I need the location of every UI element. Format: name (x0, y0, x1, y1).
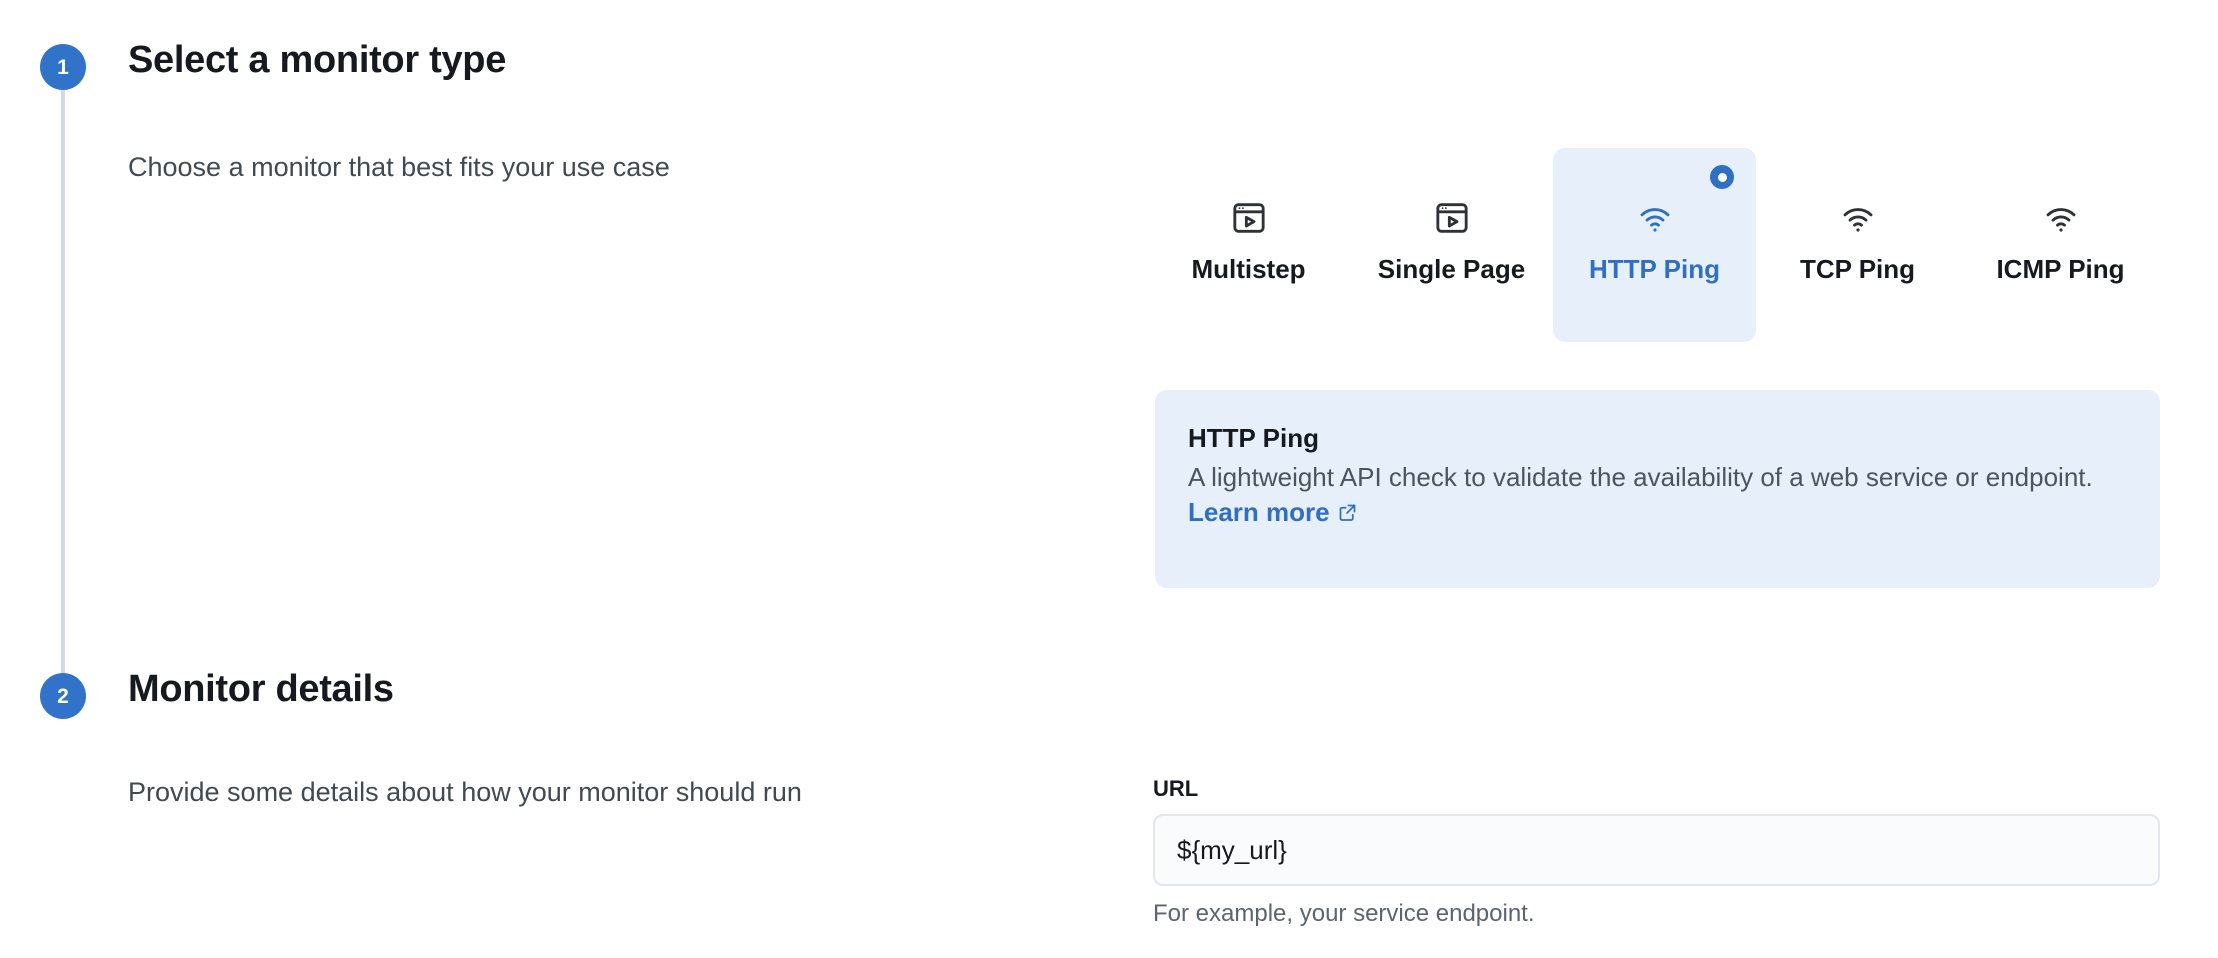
radio-selected-icon[interactable] (1710, 165, 1734, 189)
step-1-subtitle: Choose a monitor that best fits your use… (128, 152, 670, 183)
monitor-type-label: Multistep (1191, 254, 1305, 285)
monitor-type-selector: Multistep Single Page (1147, 148, 2162, 342)
info-panel-title: HTTP Ping (1188, 423, 2124, 454)
browser-play-icon (1229, 198, 1269, 238)
monitor-type-option-icmp-ping[interactable]: ICMP Ping (1959, 148, 2162, 342)
external-link-icon[interactable] (1337, 497, 1358, 518)
browser-play-icon (1432, 198, 1472, 238)
info-panel-description-text: A lightweight API check to validate the … (1188, 462, 2093, 492)
step-2-title: Monitor details (128, 668, 394, 711)
wifi-signal-icon (1635, 198, 1675, 238)
monitor-type-option-http-ping[interactable]: HTTP Ping (1553, 148, 1756, 342)
step-badge-2-number: 2 (57, 686, 69, 707)
info-panel-description: A lightweight API check to validate the … (1188, 460, 2118, 530)
monitor-type-label: TCP Ping (1800, 254, 1915, 285)
monitor-type-label: HTTP Ping (1589, 254, 1720, 285)
wifi-signal-icon (2041, 198, 2081, 238)
monitor-type-option-multistep[interactable]: Multistep (1147, 148, 1350, 342)
url-input[interactable] (1153, 814, 2160, 886)
url-field-label: URL (1153, 776, 2160, 802)
monitor-type-label: ICMP Ping (1996, 254, 2124, 285)
url-field-group: URL For example, your service endpoint. (1153, 776, 2160, 928)
step-badge-1-number: 1 (57, 57, 69, 78)
monitor-type-option-tcp-ping[interactable]: TCP Ping (1756, 148, 1959, 342)
stepper-connector-line (61, 68, 65, 708)
monitor-type-info-panel: HTTP Ping A lightweight API check to val… (1155, 390, 2160, 588)
monitor-type-option-single-page[interactable]: Single Page (1350, 148, 1553, 342)
monitor-type-label: Single Page (1378, 254, 1525, 285)
learn-more-link[interactable]: Learn more (1188, 497, 1330, 527)
wifi-signal-icon (1838, 198, 1878, 238)
step-badge-2: 2 (40, 673, 86, 719)
url-field-hint: For example, your service endpoint. (1153, 900, 2160, 928)
step-1-title: Select a monitor type (128, 39, 506, 82)
step-2-subtitle: Provide some details about how your moni… (128, 777, 802, 808)
monitor-creation-wizard: 1 Select a monitor type Choose a monitor… (0, 0, 2218, 958)
step-badge-1: 1 (40, 44, 86, 90)
